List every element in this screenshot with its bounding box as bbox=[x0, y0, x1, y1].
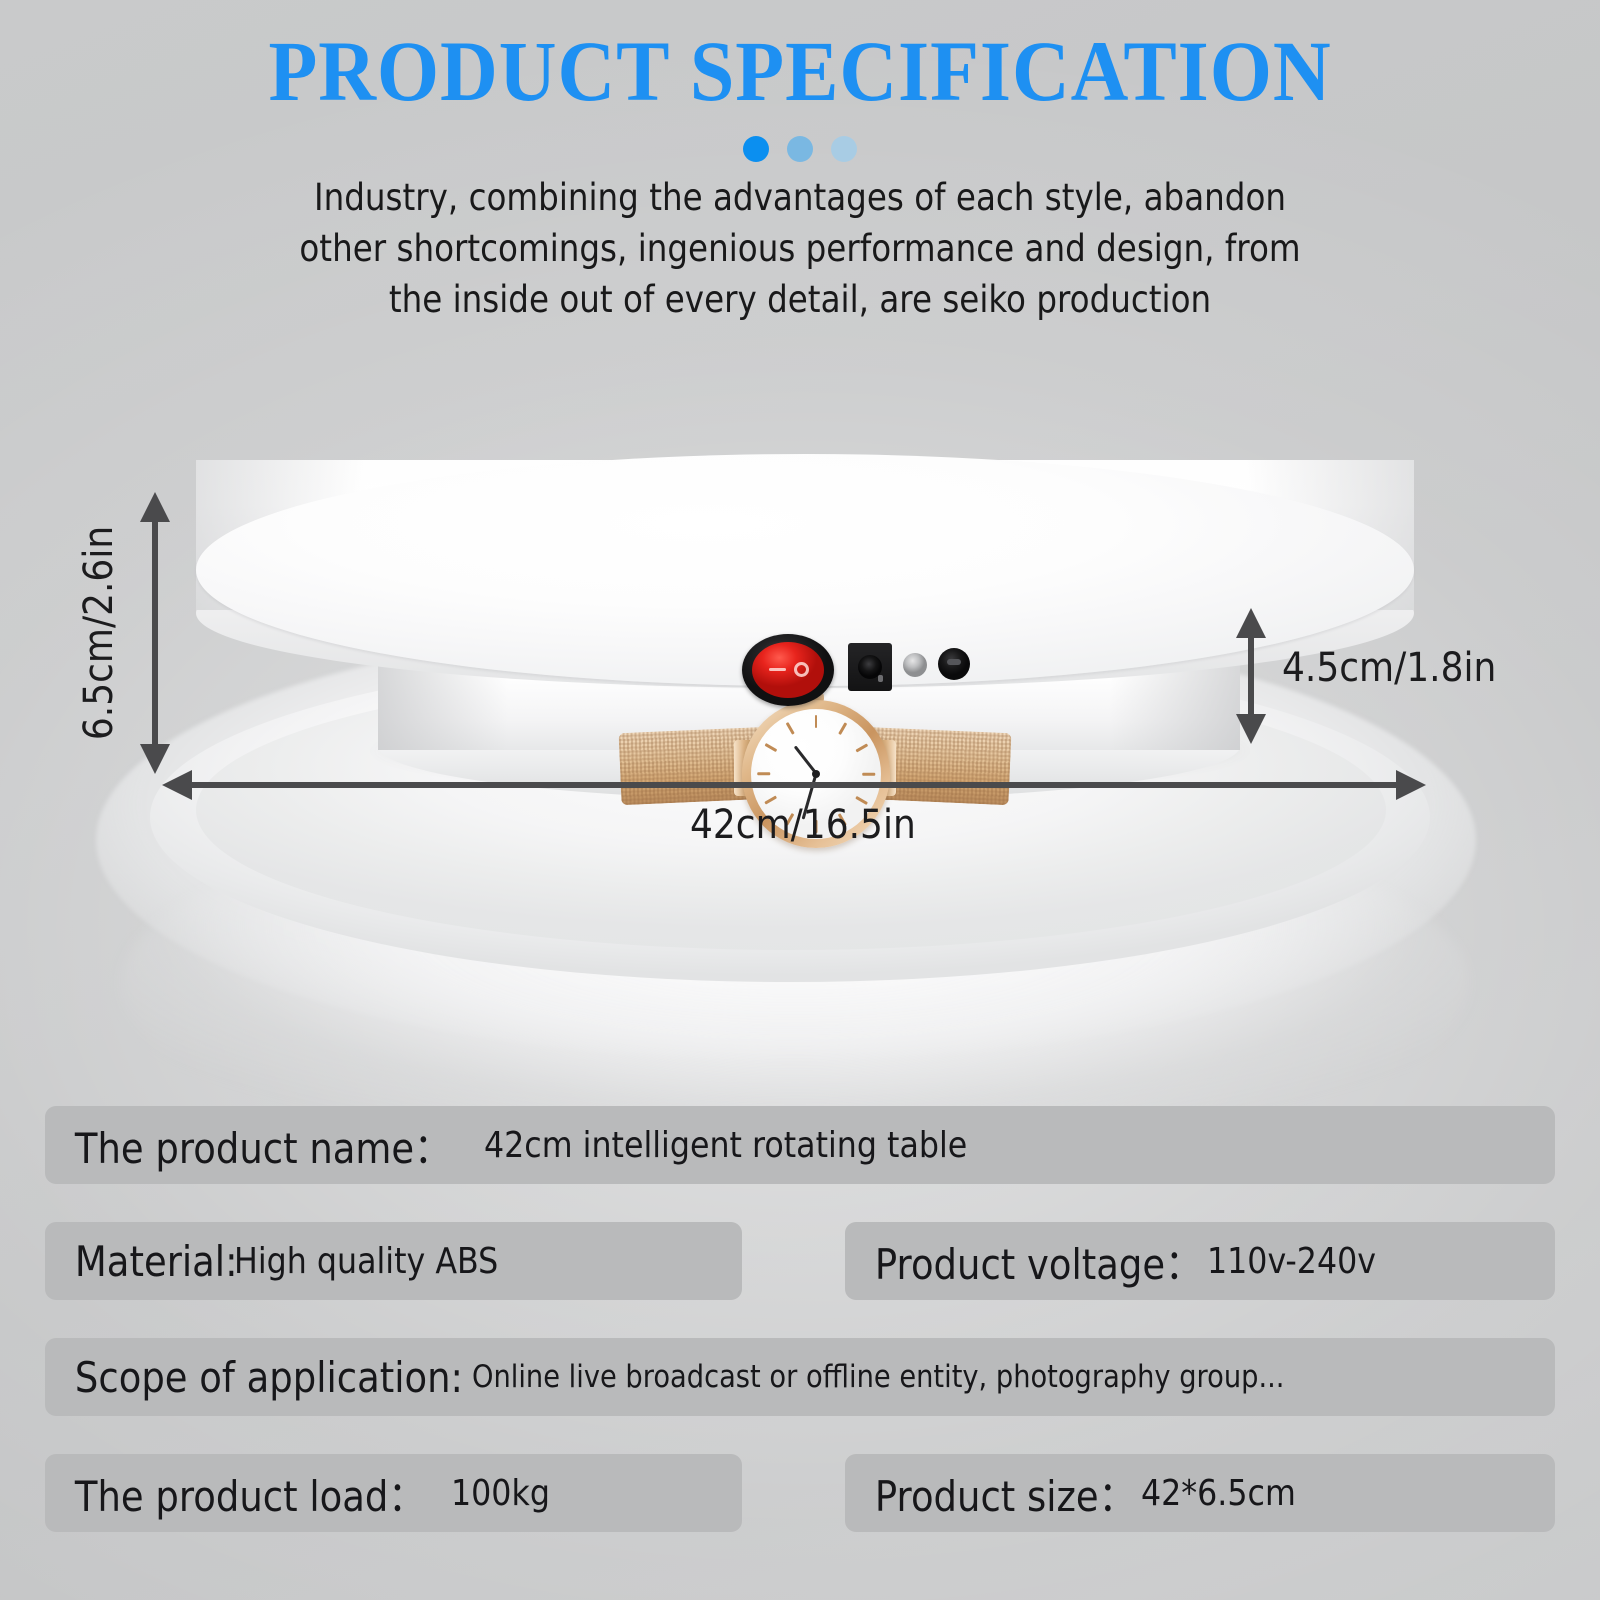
aux-round-port bbox=[938, 648, 970, 680]
table-row: Product size： 42*6.5cm bbox=[845, 1454, 1555, 1532]
spec-label-voltage: Product voltage： bbox=[845, 1231, 1202, 1292]
table-row: The product name： 42cm intelligent rotat… bbox=[45, 1106, 1555, 1184]
height-base-label: 4.5cm/1.8in bbox=[1282, 645, 1496, 691]
dot-2-icon bbox=[787, 136, 813, 162]
width-arrow-line bbox=[186, 782, 1408, 788]
spec-value-scope: Online live broadcast or offline entity,… bbox=[472, 1359, 1284, 1395]
spec-label-scope: Scope of application: bbox=[45, 1353, 463, 1402]
product-specification-page: PRODUCT SPECIFICATION Industry, combinin… bbox=[0, 0, 1600, 1600]
height-arrow-line bbox=[152, 512, 158, 752]
spec-label-load: The product load： bbox=[45, 1463, 425, 1524]
table-row: Scope of application: Online live broadc… bbox=[45, 1338, 1555, 1416]
subtitle-paragraph: Industry, combining the advantages of ea… bbox=[281, 172, 1319, 325]
spec-value-voltage: 110v-240v bbox=[1207, 1241, 1376, 1282]
switch-off-icon bbox=[794, 662, 809, 677]
dot-separator bbox=[0, 136, 1600, 162]
spec-label-size: Product size： bbox=[845, 1463, 1136, 1524]
spec-label-product-name: The product name： bbox=[45, 1115, 451, 1176]
power-switch-rocker[interactable] bbox=[752, 642, 824, 698]
switch-on-icon bbox=[769, 668, 786, 671]
spec-value-material: High quality ABS bbox=[234, 1241, 498, 1282]
hand-pivot bbox=[812, 770, 820, 778]
spec-value-product-name: 42cm intelligent rotating table bbox=[484, 1125, 967, 1166]
dot-3-icon bbox=[831, 136, 857, 162]
power-switch[interactable] bbox=[742, 634, 834, 706]
table-row: Product voltage： 110v-240v bbox=[845, 1222, 1555, 1300]
dc-jack-hole-icon bbox=[858, 655, 882, 679]
led-indicator bbox=[903, 653, 927, 677]
dot-1-icon bbox=[743, 136, 769, 162]
spec-label-material: Material: bbox=[45, 1237, 238, 1286]
height-total-label: 6.5cm/2.6in bbox=[76, 512, 122, 755]
base-height-arrow-line bbox=[1248, 628, 1254, 722]
spec-value-size: 42*6.5cm bbox=[1141, 1473, 1296, 1514]
width-arrow-head-right bbox=[1396, 770, 1426, 800]
page-title: PRODUCT SPECIFICATION bbox=[56, 28, 1544, 114]
product-photo bbox=[0, 320, 1600, 1100]
spec-value-load: 100kg bbox=[451, 1473, 550, 1514]
table-row: Material: High quality ABS bbox=[45, 1222, 742, 1300]
dc-power-jack bbox=[848, 643, 892, 691]
base-height-arrow-head-bottom bbox=[1236, 714, 1266, 744]
table-row: The product load： 100kg bbox=[45, 1454, 742, 1532]
width-label: 42cm/16.5in bbox=[690, 802, 916, 848]
